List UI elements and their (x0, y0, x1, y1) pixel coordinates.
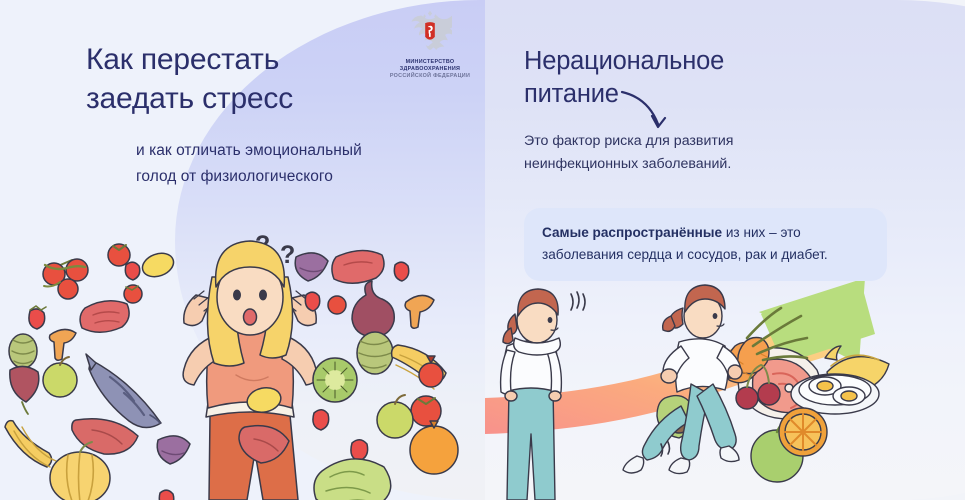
food-lettuce-head (314, 459, 391, 500)
food-strawberry-4 (394, 262, 408, 281)
food-artichoke (9, 334, 37, 368)
left-headline-line1: Как перестать (86, 40, 386, 79)
left-subheading-line2: голод от физиологического (136, 164, 446, 190)
food-strawberry-6 (313, 410, 329, 430)
logo-caption-line3: РОССИЙСКОЙ ФЕДЕРАЦИИ (380, 73, 480, 80)
food-fig-2 (295, 253, 328, 281)
callout-text: Самые распространённые из них – это забо… (542, 222, 869, 266)
callout-bold-phrase: Самые распространённые (542, 225, 722, 240)
food-strawberry-5 (305, 292, 319, 311)
right-body-text: Это фактор риска для развития неинфекцио… (524, 130, 844, 177)
russian-double-headed-eagle-emblem (408, 8, 452, 52)
left-headline: Как перестать заедать стресс (86, 40, 386, 118)
food-chanterelle-mushroom (50, 329, 77, 360)
food-banana-bunch (5, 421, 56, 467)
left-headline-line2: заедать стресс (86, 79, 386, 118)
food-beetroot (10, 366, 39, 414)
food-orange (410, 421, 458, 474)
food-steak-2 (332, 250, 384, 283)
food-strawberry-3 (159, 490, 173, 500)
left-panel: ??? (0, 0, 485, 500)
food-apple-green (43, 357, 77, 397)
right-body-line1: Это фактор риска для развития (524, 130, 844, 153)
food-strawberry-7 (351, 440, 368, 461)
food-orange-slice (779, 408, 827, 456)
food-fish-mackerel (86, 354, 161, 428)
callout-box: Самые распространённые из них – это забо… (524, 208, 887, 281)
sweat-marks (571, 292, 585, 310)
curved-down-right-arrow-icon (618, 86, 702, 136)
food-raw-steak (80, 301, 129, 332)
food-fig (157, 436, 190, 464)
food-tomato-cluster (43, 259, 88, 299)
food-raspberry (124, 285, 142, 303)
right-body-line2: неинфекционных заболеваний. (524, 153, 844, 176)
logo-caption-line1: МИНИСТЕРСТВО (380, 59, 480, 66)
illustration-stressed-woman-with-food: ??? (0, 225, 485, 500)
infographic-stage: ??? (0, 0, 965, 500)
right-headline-line1: Нерациональное (524, 45, 824, 78)
food-raspberry-2 (328, 296, 346, 314)
food-chanterelle-2 (405, 295, 434, 328)
food-lemon (139, 249, 177, 281)
left-subheading-line1: и как отличать эмоциональный (136, 138, 446, 164)
food-artichoke-2 (357, 332, 393, 374)
food-kiwi-half (313, 358, 357, 402)
food-strawberry (29, 306, 46, 329)
food-strawberry-2 (125, 262, 139, 280)
ministry-logo-left: МИНИСТЕРСТВО ЗДРАВООХРАНЕНИЯ РОССИЙСКОЙ … (380, 8, 480, 79)
left-subheading: и как отличать эмоциональный голод от фи… (136, 138, 446, 190)
logo-caption-line2: ЗДРАВООХРАНЕНИЯ (380, 66, 480, 73)
illustration-lifestyle-improvement-arrow (485, 280, 965, 500)
food-tomato (108, 244, 130, 266)
food-apple-green-2 (377, 395, 413, 438)
food-onion-purple (352, 281, 394, 337)
ministry-logo-caption: МИНИСТЕРСТВО ЗДРАВООХРАНЕНИЯ РОССИЙСКОЙ … (380, 59, 480, 79)
